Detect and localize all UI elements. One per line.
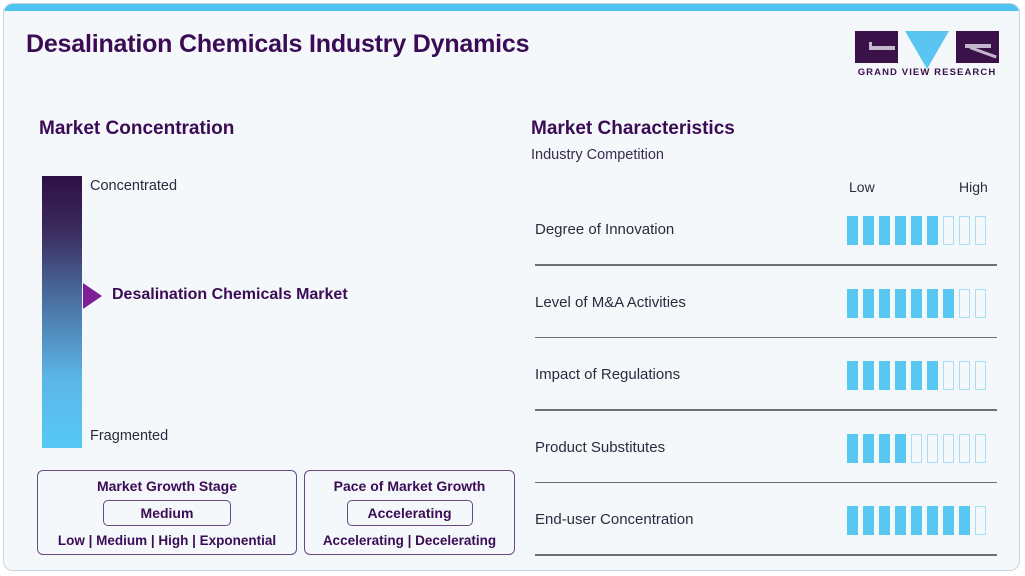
logo-triangle-icon — [905, 31, 949, 69]
characteristic-rating-bars — [847, 361, 986, 390]
rating-segment-empty — [943, 216, 954, 245]
row-divider — [535, 337, 997, 339]
rating-segment-filled — [847, 289, 858, 318]
rating-segment-filled — [927, 361, 938, 390]
rating-segment-filled — [879, 434, 890, 463]
row-divider — [535, 554, 997, 556]
growth-stage-title: Market Growth Stage — [38, 478, 296, 494]
market-concentration-heading: Market Concentration — [39, 118, 234, 140]
scale-label-low: Low — [849, 179, 875, 195]
row-divider — [535, 482, 997, 484]
rating-segment-empty — [975, 289, 986, 318]
grand-view-research-logo: GRAND VIEW RESEARCH — [855, 31, 999, 79]
rating-segment-filled — [847, 216, 858, 245]
rating-segment-filled — [943, 289, 954, 318]
rating-segment-filled — [879, 216, 890, 245]
rating-segment-filled — [863, 361, 874, 390]
logo-g-slot — [869, 46, 895, 50]
characteristic-rating-bars — [847, 434, 986, 463]
characteristic-row: End-user Concentration — [531, 494, 998, 567]
concentration-gradient-scale — [42, 176, 82, 448]
rating-segment-filled — [863, 434, 874, 463]
market-characteristics-heading: Market Characteristics — [531, 118, 735, 140]
rating-segment-filled — [895, 361, 906, 390]
rating-segment-filled — [863, 216, 874, 245]
characteristic-rating-bars — [847, 216, 986, 245]
row-divider — [535, 264, 997, 266]
rating-segment-filled — [879, 506, 890, 535]
rating-segment-empty — [911, 434, 922, 463]
rating-segment-filled — [911, 506, 922, 535]
growth-pace-value-wrap: Accelerating — [305, 500, 514, 526]
characteristic-label: Impact of Regulations — [535, 366, 680, 383]
rating-segment-filled — [927, 506, 938, 535]
page-title: Desalination Chemicals Industry Dynamics — [26, 30, 529, 59]
rating-segment-empty — [943, 434, 954, 463]
rating-segment-empty — [943, 361, 954, 390]
characteristic-rating-bars — [847, 506, 986, 535]
rating-segment-empty — [927, 434, 938, 463]
rating-segment-empty — [975, 506, 986, 535]
rating-segment-filled — [879, 361, 890, 390]
concentration-top-label: Concentrated — [90, 178, 177, 194]
characteristic-row: Degree of Innovation — [531, 204, 998, 277]
characteristic-row: Level of M&A Activities — [531, 277, 998, 350]
rating-segment-filled — [943, 506, 954, 535]
scale-label-high: High — [959, 179, 988, 195]
growth-stage-value[interactable]: Medium — [103, 500, 231, 526]
rating-segment-filled — [863, 289, 874, 318]
rating-segment-filled — [895, 289, 906, 318]
characteristics-list: Degree of InnovationLevel of M&A Activit… — [531, 204, 998, 567]
market-growth-stage-box: Market Growth Stage Medium Low | Medium … — [37, 470, 297, 555]
logo-wordmark: GRAND VIEW RESEARCH — [855, 67, 999, 78]
rating-segment-filled — [911, 216, 922, 245]
characteristic-row: Impact of Regulations — [531, 349, 998, 422]
growth-pace-title: Pace of Market Growth — [305, 478, 514, 494]
growth-stage-scale: Low | Medium | High | Exponential — [38, 533, 296, 548]
logo-r-square-icon — [956, 31, 999, 63]
characteristic-rating-bars — [847, 289, 986, 318]
rating-segment-filled — [895, 216, 906, 245]
rating-segment-empty — [975, 361, 986, 390]
rating-segment-filled — [911, 289, 922, 318]
logo-marks — [855, 31, 999, 63]
rating-segment-empty — [975, 216, 986, 245]
rating-segment-filled — [879, 289, 890, 318]
growth-stage-value-wrap: Medium — [38, 500, 296, 526]
row-divider — [535, 409, 997, 411]
market-position-label: Desalination Chemicals Market — [112, 286, 348, 304]
rating-segment-empty — [959, 289, 970, 318]
infographic-card: Desalination Chemicals Industry Dynamics… — [3, 3, 1020, 571]
rating-segment-filled — [927, 289, 938, 318]
market-position-arrow-icon — [83, 283, 102, 309]
rating-segment-filled — [911, 361, 922, 390]
characteristic-label: End-user Concentration — [535, 511, 693, 528]
rating-segment-filled — [927, 216, 938, 245]
characteristic-label: Degree of Innovation — [535, 221, 674, 238]
characteristic-label: Product Substitutes — [535, 439, 665, 456]
rating-segment-empty — [959, 434, 970, 463]
rating-segment-filled — [863, 506, 874, 535]
pace-of-market-growth-box: Pace of Market Growth Accelerating Accel… — [304, 470, 515, 555]
rating-segment-filled — [895, 434, 906, 463]
rating-segment-filled — [895, 506, 906, 535]
logo-g-square-icon — [855, 31, 898, 63]
rating-segment-empty — [959, 361, 970, 390]
growth-pace-value[interactable]: Accelerating — [347, 500, 473, 526]
characteristic-row: Product Substitutes — [531, 422, 998, 495]
top-accent-bar — [4, 4, 1019, 11]
rating-segment-empty — [975, 434, 986, 463]
growth-pace-scale: Accelerating | Decelerating — [305, 533, 514, 548]
rating-segment-empty — [959, 216, 970, 245]
rating-segment-filled — [847, 361, 858, 390]
rating-segment-filled — [847, 506, 858, 535]
market-characteristics-subheading: Industry Competition — [531, 147, 664, 163]
concentration-bottom-label: Fragmented — [90, 428, 168, 444]
rating-segment-filled — [959, 506, 970, 535]
rating-segment-filled — [847, 434, 858, 463]
characteristic-label: Level of M&A Activities — [535, 294, 686, 311]
